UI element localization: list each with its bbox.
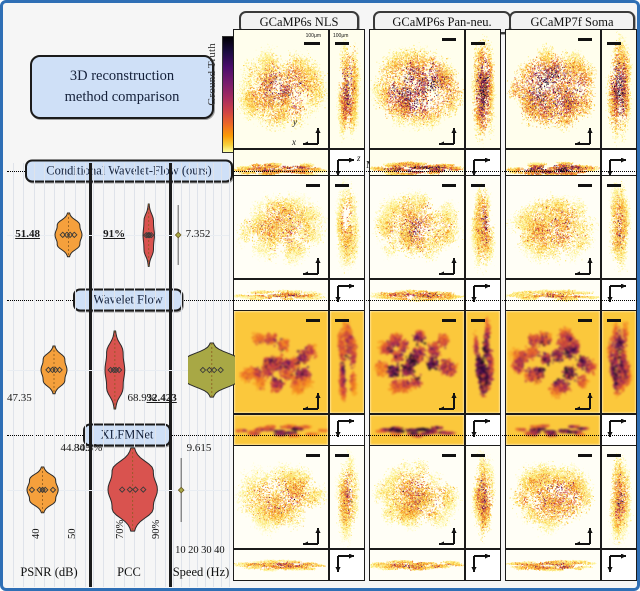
- scale-bar: [306, 454, 320, 457]
- panel-xz-row-wf-col-gcamp7f-soma: [505, 414, 601, 446]
- axis-glyph-xy-icon: [434, 123, 460, 145]
- panel-zy-row-cwf-col-gcamp6s-panneu: [465, 175, 501, 279]
- metric-value-xlfmnet-pcc: 84.3%: [74, 442, 102, 454]
- scale-bar: [335, 42, 349, 45]
- figure-root: 3D reconstruction method comparison Grou…: [0, 0, 640, 591]
- scale-bar: [442, 454, 456, 457]
- panel-xy-row-ground-truth-col-gcamp6s-nls: 100μmyx: [233, 29, 329, 149]
- gridline: [23, 163, 24, 587]
- scale-bar: [306, 184, 320, 187]
- panel-zy-row-ground-truth-col-gcamp6s-panneu: [465, 29, 501, 149]
- panel-xy-row-wf-col-gcamp7f-soma: [505, 310, 601, 414]
- panel-zy-row-xlfmnet-col-gcamp7f-soma: [601, 445, 637, 549]
- tick-pcc-70%: 70%: [115, 520, 126, 539]
- metric-value-wf-speed: 32.423: [147, 392, 177, 404]
- panel-xz-row-cwf-col-gcamp6s-panneu: [369, 279, 465, 311]
- axis-glyph-z-icon: [469, 284, 495, 306]
- scale-bar: [471, 319, 485, 322]
- panel-xy-row-wf-col-gcamp6s-nls: [233, 310, 329, 414]
- metric-separator-1: [169, 163, 172, 587]
- panel-xy-row-xlfmnet-col-gcamp7f-soma: [505, 445, 601, 549]
- axis-key-row-xlfmnet-col-gcamp6s-nls: [329, 549, 365, 581]
- axis-glyph-xy-icon: [298, 123, 324, 145]
- scale-bar: [607, 319, 621, 322]
- panel-xz-row-cwf-col-gcamp6s-nls: [233, 279, 329, 311]
- axis-key-row-wf-col-gcamp6s-nls: [329, 414, 365, 446]
- axis-label-y: y: [293, 117, 297, 127]
- violin-wf-speed: [188, 339, 236, 401]
- scale-bar: [471, 454, 485, 457]
- axis-glyph-z-icon: [605, 419, 631, 441]
- metric-value-cwf-pcc: 91%: [103, 228, 125, 240]
- panel-xz-row-xlfmnet-col-gcamp6s-nls: [233, 549, 329, 581]
- axis-glyph-xy-icon: [434, 253, 460, 275]
- scale-bar: [306, 319, 320, 322]
- panel-zy-row-wf-col-gcamp7f-soma: [601, 310, 637, 414]
- scale-bar: [304, 42, 320, 45]
- panel-zy-row-wf-col-gcamp6s-panneu: [465, 310, 501, 414]
- scale-bar: [335, 319, 349, 322]
- axis-glyph-xy-icon: [298, 388, 324, 410]
- colorbar-label: Ground Truth: [206, 43, 220, 106]
- axis-label-z-h: z: [357, 153, 361, 163]
- panel-zy-row-xlfmnet-col-gcamp6s-nls: [329, 445, 365, 549]
- panel-xz-row-xlfmnet-col-gcamp6s-panneu: [369, 549, 465, 581]
- axis-glyph-xy-icon: [570, 123, 596, 145]
- axis-glyph-z-icon: [333, 419, 359, 441]
- axis-glyph-z-icon: [605, 554, 631, 576]
- panel-xy-row-ground-truth-col-gcamp6s-panneu: [369, 29, 465, 149]
- panel-xy-row-ground-truth-col-gcamp7f-soma: [505, 29, 601, 149]
- metrics-panel: 51.4891%7.35247.3568.9%32.42344.30584.3%…: [7, 163, 229, 587]
- axis-glyph-xy-icon: [570, 388, 596, 410]
- scale-bar: [335, 454, 349, 457]
- scale-bar: [578, 38, 592, 41]
- axis-key-row-cwf-col-gcamp6s-panneu: [465, 279, 501, 311]
- metric-value-wf-psnr: 47.35: [7, 392, 32, 404]
- metric-value-cwf-psnr: 51.48: [15, 228, 40, 240]
- panel-zy-row-cwf-col-gcamp6s-nls: [329, 175, 365, 279]
- scale-bar: [471, 42, 485, 45]
- violin-xlfmnet-psnr: [24, 463, 61, 517]
- panel-xy-row-xlfmnet-col-gcamp6s-nls: [233, 445, 329, 549]
- scale-bar: [578, 454, 592, 457]
- tick-pcc-90%: 90%: [151, 520, 162, 539]
- axis-glyph-xy-icon: [570, 253, 596, 275]
- panel-xy-row-xlfmnet-col-gcamp6s-panneu: [369, 445, 465, 549]
- axis-key-row-wf-col-gcamp6s-panneu: [465, 414, 501, 446]
- tick-psnr-40: 40: [31, 529, 42, 540]
- panel-zy-row-wf-col-gcamp6s-nls: [329, 310, 365, 414]
- panel-zy-row-xlfmnet-col-gcamp6s-panneu: [465, 445, 501, 549]
- panel-xz-row-cwf-col-gcamp7f-soma: [505, 279, 601, 311]
- panel-xz-row-xlfmnet-col-gcamp7f-soma: [505, 549, 601, 581]
- tick-speed-20: 20: [188, 545, 199, 556]
- scale-bar-label: 100μm: [333, 33, 348, 39]
- violin-cwf-psnr: [52, 209, 85, 261]
- panel-zy-row-ground-truth-col-gcamp7f-soma: [601, 29, 637, 149]
- axis-title-pcc: PCC: [87, 565, 171, 580]
- image-grid: 100μmyx100μmzzMIP: [233, 29, 639, 585]
- axis-key-row-xlfmnet-col-gcamp7f-soma: [601, 549, 637, 581]
- panel-xy-row-cwf-col-gcamp6s-panneu: [369, 175, 465, 279]
- scale-bar: [578, 184, 592, 187]
- scale-bar: [442, 184, 456, 187]
- scale-bar: [607, 184, 621, 187]
- gridline: [13, 163, 14, 587]
- scale-bar: [607, 42, 621, 45]
- axis-glyph-xy-icon: [434, 523, 460, 545]
- axis-glyph-z-icon: [469, 554, 495, 576]
- scale-bar: [607, 454, 621, 457]
- violin-wf-psnr: [38, 342, 70, 398]
- axis-glyph-xy-icon: [298, 523, 324, 545]
- panel-xy-row-cwf-col-gcamp7f-soma: [505, 175, 601, 279]
- panel-zy-row-cwf-col-gcamp7f-soma: [601, 175, 637, 279]
- axis-glyph-z-icon: [333, 284, 359, 306]
- scale-bar: [442, 319, 456, 322]
- axis-title-speed: Speed (Hz): [167, 565, 235, 580]
- axis-glyph-xy-icon: [570, 523, 596, 545]
- metric-value-xlfmnet-speed: 9.615: [187, 442, 212, 454]
- title-box: 3D reconstruction method comparison: [30, 55, 214, 119]
- axis-glyph-z-icon: [333, 554, 359, 576]
- title-line-2: method comparison: [38, 87, 206, 108]
- axis-key-row-cwf-col-gcamp6s-nls: [329, 279, 365, 311]
- panel-xy-row-wf-col-gcamp6s-panneu: [369, 310, 465, 414]
- tick-speed-10: 10: [175, 545, 186, 556]
- violin-wf-pcc: [102, 327, 128, 413]
- axis-glyph-z-icon: [605, 284, 631, 306]
- gridline: [165, 163, 166, 587]
- panel-xz-row-wf-col-gcamp6s-panneu: [369, 414, 465, 446]
- scale-bar: [442, 38, 456, 41]
- gridline: [93, 163, 94, 587]
- scale-bar: [335, 184, 349, 187]
- axis-key-row-xlfmnet-col-gcamp6s-panneu: [465, 549, 501, 581]
- axis-glyph-xy-icon: [298, 253, 324, 275]
- axis-title-psnr: PSNR (dB): [7, 565, 91, 580]
- axis-glyph-z-icon: [469, 419, 495, 441]
- violin-cwf-speed: [174, 205, 182, 265]
- axis-glyph-xy-icon: [434, 388, 460, 410]
- metric-separator-0: [89, 163, 92, 587]
- axis-key-row-cwf-col-gcamp7f-soma: [601, 279, 637, 311]
- scale-bar: [578, 319, 592, 322]
- tick-speed-30: 30: [201, 545, 212, 556]
- panel-xy-row-cwf-col-gcamp6s-nls: [233, 175, 329, 279]
- tick-psnr-50: 50: [67, 529, 78, 540]
- axis-key-row-wf-col-gcamp7f-soma: [601, 414, 637, 446]
- axis-label-x: x: [292, 137, 296, 147]
- scale-bar: [471, 184, 485, 187]
- metric-value-cwf-speed: 7.352: [186, 228, 211, 240]
- title-line-1: 3D reconstruction: [38, 66, 206, 87]
- violin-xlfmnet-speed: [177, 458, 185, 522]
- scale-bar-label: 100μm: [306, 33, 321, 39]
- gridline: [34, 163, 35, 587]
- violin-cwf-pcc: [140, 200, 157, 270]
- panel-xz-row-wf-col-gcamp6s-nls: [233, 414, 329, 446]
- tick-speed-40: 40: [214, 545, 225, 556]
- panel-zy-row-ground-truth-col-gcamp6s-nls: 100μm: [329, 29, 365, 149]
